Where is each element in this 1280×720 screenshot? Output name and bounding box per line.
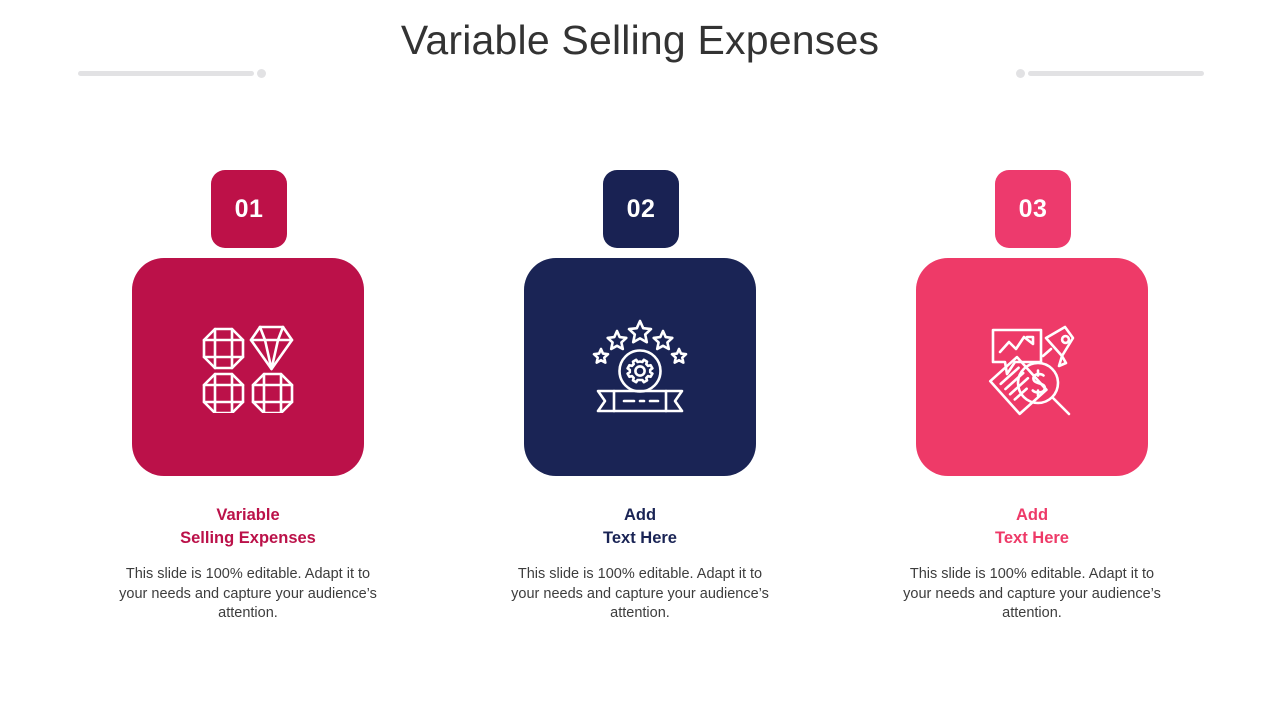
page-title: Variable Selling Expenses xyxy=(0,14,1280,66)
slide-header: Variable Selling Expenses xyxy=(0,0,1280,92)
card-body-03: This slide is 100% editable. Adapt it to… xyxy=(898,565,1166,624)
step-number: 01 xyxy=(235,195,264,224)
icon-card-02[interactable] xyxy=(524,258,756,476)
card-heading-03: Add Text Here xyxy=(995,504,1069,550)
decorative-dot-icon xyxy=(257,69,266,78)
card-heading-02: Add Text Here xyxy=(603,504,677,550)
card-column-03: 03 xyxy=(836,170,1228,624)
award-gear-ribbon-icon xyxy=(590,319,690,415)
step-badge-01[interactable]: 01 xyxy=(211,170,287,248)
card-body-02: This slide is 100% editable. Adapt it to… xyxy=(506,565,774,624)
card-heading-01: Variable Selling Expenses xyxy=(180,504,316,550)
step-number: 03 xyxy=(1019,195,1048,224)
step-badge-02[interactable]: 02 xyxy=(603,170,679,248)
card-column-01: 01 xyxy=(52,170,444,624)
decorative-rule-left xyxy=(78,66,266,80)
icon-card-01[interactable] xyxy=(132,258,364,476)
icon-card-03[interactable] xyxy=(916,258,1148,476)
financial-analysis-icon xyxy=(983,318,1081,416)
decorative-line xyxy=(1028,71,1204,76)
gems-grid-icon xyxy=(202,321,294,413)
card-column-02: 02 xyxy=(444,170,836,624)
card-columns: 01 xyxy=(0,170,1280,624)
card-body-01: This slide is 100% editable. Adapt it to… xyxy=(114,565,382,624)
decorative-rule-right xyxy=(1016,66,1204,80)
step-number: 02 xyxy=(627,195,656,224)
step-badge-03[interactable]: 03 xyxy=(995,170,1071,248)
decorative-line xyxy=(78,71,254,76)
decorative-dot-icon xyxy=(1016,69,1025,78)
